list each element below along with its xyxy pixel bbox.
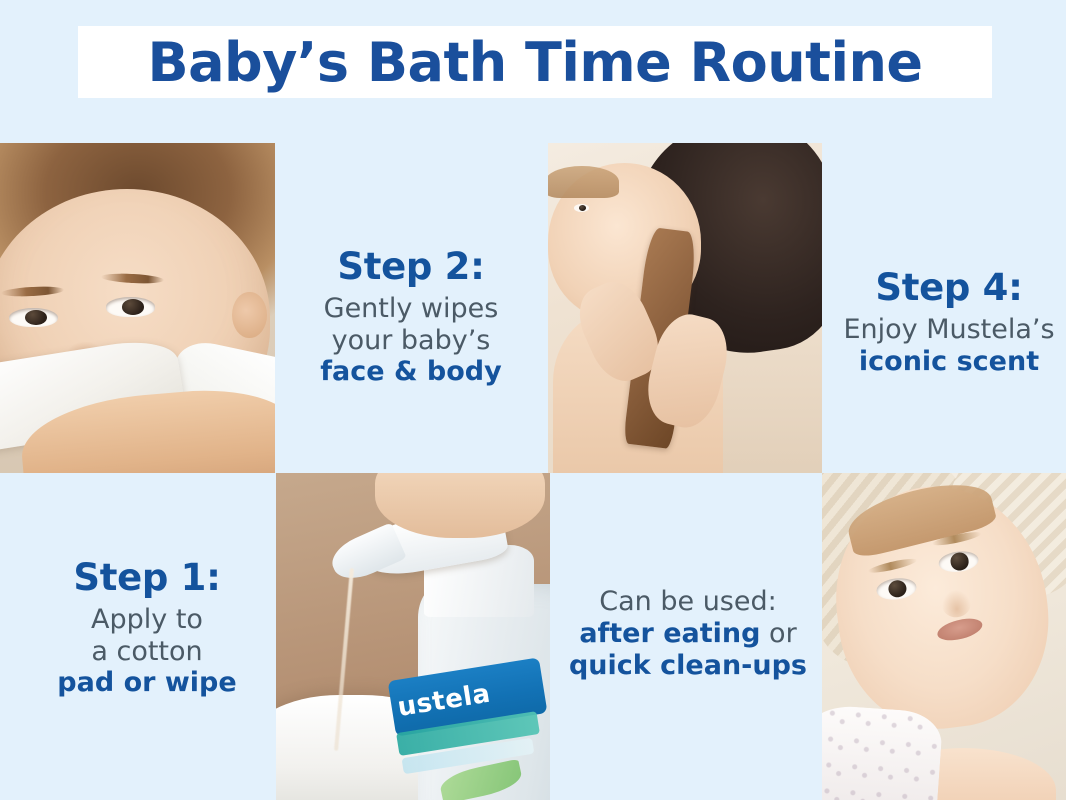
mustela-brand-text: ustela xyxy=(396,679,493,723)
step-4-heading: Step 4: xyxy=(836,266,1062,310)
usage-line-1: Can be used: xyxy=(562,586,814,618)
usage-line-2: after eating or xyxy=(562,618,814,650)
baby-pupil-left xyxy=(25,310,47,326)
usage-line-2-regular: or xyxy=(760,618,796,649)
baby-eye-left xyxy=(9,308,58,327)
baby-eyebrow-right xyxy=(101,272,164,285)
baby-ear xyxy=(232,292,266,338)
step-4-text-block: Step 4: Enjoy Mustela’s iconic scent xyxy=(836,266,1062,377)
step-1-text-block: Step 1: Apply to a cotton pad or wipe xyxy=(22,556,272,699)
baby-hair xyxy=(548,166,619,198)
baby-eye-right xyxy=(106,297,155,316)
step-1-line-1: Apply to xyxy=(22,604,272,636)
photo-mother-nuzzling-baby xyxy=(548,143,822,473)
baby-eye-left xyxy=(875,576,917,601)
baby-pupil-right xyxy=(949,552,969,571)
baby-eyebrow-left xyxy=(867,556,918,575)
baby-eye xyxy=(574,204,589,212)
baby-mouth xyxy=(934,614,983,644)
step-2-line-3: face & body xyxy=(286,356,536,388)
step-1-heading: Step 1: xyxy=(22,556,272,600)
baby-eyebrow-left xyxy=(0,285,63,298)
step-2-line-2: your baby’s xyxy=(286,325,536,357)
step-2-line-1: Gently wipes xyxy=(286,293,536,325)
usage-line-3: quick clean-ups xyxy=(562,650,814,682)
baby-pupil-right xyxy=(122,299,144,315)
photo-mustela-bottle-dispensing: ustela xyxy=(276,473,550,800)
step-4-line-1: Enjoy Mustela’s xyxy=(836,314,1062,346)
baby-eye-right xyxy=(937,549,979,574)
step-4-line-2: iconic scent xyxy=(836,346,1062,378)
infographic-canvas: Baby’s Bath Time Routine xyxy=(0,0,1066,800)
page-title: Baby’s Bath Time Routine xyxy=(78,25,992,99)
step-1-line-2: a cotton xyxy=(22,636,272,668)
baby-pupil xyxy=(579,205,586,211)
step-1-line-3: pad or wipe xyxy=(22,667,272,699)
baby-nose xyxy=(940,589,972,619)
usage-line-2-bold: after eating xyxy=(579,618,760,649)
step-2-heading: Step 2: xyxy=(286,245,536,289)
baby-clothing xyxy=(822,704,943,800)
photo-baby-lying-down xyxy=(822,473,1066,800)
baby-pupil-left xyxy=(887,579,907,598)
photo-baby-face-being-wiped xyxy=(0,143,275,473)
step-2-text-block: Step 2: Gently wipes your baby’s face & … xyxy=(286,245,536,388)
usage-text-block: Can be used: after eating or quick clean… xyxy=(562,586,814,682)
